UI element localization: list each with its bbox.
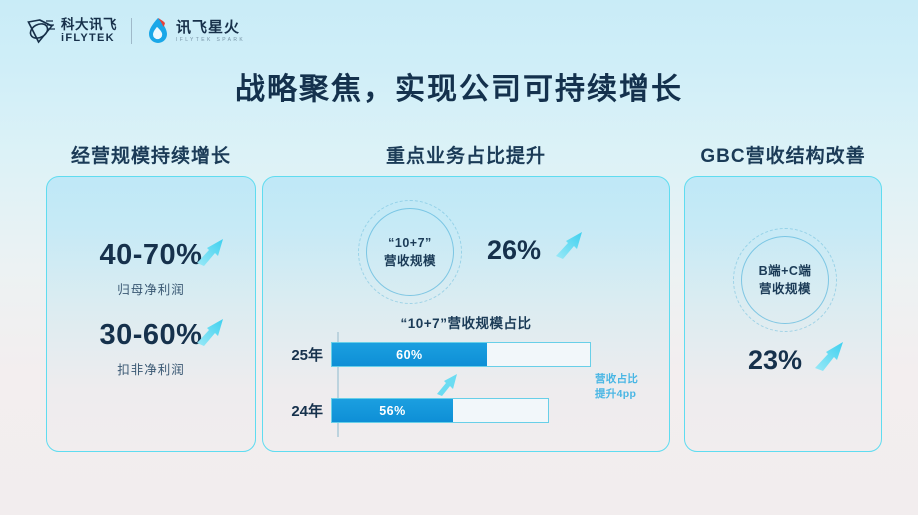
bar-track: 56%: [331, 398, 549, 423]
chart-title: “10+7”营收规模占比: [262, 312, 670, 332]
metric-label: 归母净利润: [47, 279, 255, 298]
spark-logo: 讯飞星火 IFLYTEK SPARK: [146, 17, 245, 45]
arrow-up-icon: [810, 333, 852, 373]
percent-text: 23%: [748, 345, 802, 375]
logo-divider: [131, 18, 132, 44]
chart-bar-row: 25年 60%: [285, 342, 591, 367]
circle-label-line1: B端+C端: [759, 264, 812, 278]
bar-category-label: 25年: [285, 344, 331, 365]
circle-label: “10+7” 营收规模: [384, 234, 436, 270]
middle-percent-value: 26%: [487, 235, 541, 266]
spark-name-en: IFLYTEK SPARK: [176, 38, 245, 43]
iflytek-logo-icon: [26, 18, 56, 44]
bar-track: 60%: [331, 342, 591, 367]
chart-annotation-line2: 提升4pp: [595, 388, 636, 400]
section-heading-right: GBC营收结构改善: [684, 141, 882, 168]
metric-deducted-profit: 30-60% 扣非净利润: [47, 319, 255, 378]
chart-annotation: 营收占比 提升4pp: [595, 372, 638, 402]
iflytek-logo: 科大讯飞 iFLYTEK: [26, 18, 117, 45]
iflytek-name-en: iFLYTEK: [61, 33, 117, 44]
circle-badge-middle: “10+7” 营收规模: [358, 200, 462, 304]
metric-net-profit: 40-70% 归母净利润: [47, 239, 255, 298]
circle-label-line2: 营收规模: [384, 254, 436, 268]
circle-label-line1: “10+7”: [388, 236, 432, 250]
page-title: 战略聚焦，实现公司可持续增长: [0, 64, 918, 108]
bar-value-label: 56%: [379, 404, 406, 418]
metric-value: 30-60%: [100, 319, 203, 351]
chart-bar-row: 24年 56%: [285, 398, 549, 423]
iflytek-name-cn: 科大讯飞: [61, 18, 117, 32]
arrow-up-icon: [551, 223, 591, 261]
circle-badge-right: B端+C端 营收规模: [733, 228, 837, 332]
card-operating-scale: 40-70% 归母净利润 30-60: [46, 176, 256, 452]
bar-value-label: 60%: [396, 348, 423, 362]
spark-name-cn: 讯飞星火: [176, 20, 245, 35]
right-percent-value: 23%: [748, 345, 802, 376]
metric-value: 40-70%: [100, 239, 203, 271]
bar-fill: 60%: [332, 343, 487, 366]
metric-value-row: 40-70%: [100, 239, 203, 272]
chart-annotation-line1: 营收占比: [595, 373, 638, 385]
metric-value-row: 30-60%: [100, 319, 203, 352]
section-heading-middle: 重点业务占比提升: [262, 141, 670, 168]
slide-canvas: 科大讯飞 iFLYTEK 讯飞星火 IFLYTEK SPARK 战略聚焦，实现公…: [0, 0, 918, 515]
arrow-up-icon: [433, 368, 463, 398]
bar-category-label: 24年: [285, 400, 331, 421]
brand-logo-bar: 科大讯飞 iFLYTEK 讯飞星火 IFLYTEK SPARK: [26, 13, 245, 49]
section-heading-left: 经营规模持续增长: [46, 141, 256, 168]
spark-logo-icon: [146, 17, 170, 45]
circle-label: B端+C端 营收规模: [759, 262, 812, 298]
metric-label: 扣非净利润: [47, 359, 255, 378]
percent-text: 26%: [487, 235, 541, 265]
circle-label-line2: 营收规模: [759, 282, 811, 296]
bar-fill: 56%: [332, 399, 453, 422]
spark-wordmark: 讯飞星火 IFLYTEK SPARK: [176, 20, 245, 43]
iflytek-wordmark: 科大讯飞 iFLYTEK: [61, 18, 117, 45]
